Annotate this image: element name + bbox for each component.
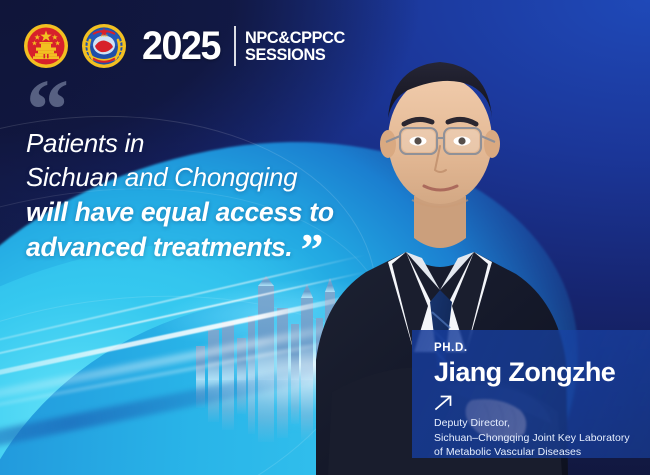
sessions-label: NPC&CPPCC SESSIONS (245, 29, 349, 64)
quote-open-mark: “ (26, 86, 406, 126)
speaker-name-panel: PH.D. Jiang Zongzhe Deputy Director, Sic… (412, 330, 650, 458)
affiliation-line-2: Sichuan–Chongqing Joint Key Laboratory (434, 431, 650, 446)
year-and-sessions-lockup: 2025 NPC&CPPCC SESSIONS (142, 26, 349, 66)
quote-last-line-row: advanced treatments. ” (26, 230, 406, 265)
header-lockup: 1949 2025 NPC&CPPCC SESSIONS (22, 22, 349, 70)
svg-text:1949: 1949 (100, 34, 108, 38)
quote-close-mark: ” (300, 242, 323, 258)
sessions-line-1: NPC&CPPCC (245, 29, 345, 46)
cppcc-emblem-icon: 1949 (80, 22, 128, 70)
poster-canvas: 1949 2025 NPC&CPPCC SESSIONS “ Patients … (0, 0, 650, 475)
quote-block: “ Patients in Sichuan and Chongqing will… (26, 86, 406, 265)
quote-line-3: will have equal access to (26, 195, 406, 230)
speaker-affiliation: Deputy Director, Sichuan–Chongqing Joint… (434, 416, 650, 461)
affiliation-line-3: of Metabolic Vascular Diseases (434, 445, 650, 460)
header-divider (234, 26, 236, 66)
quote-line-1: Patients in (26, 126, 406, 160)
quote-line-2: Sichuan and Chongqing (26, 160, 406, 194)
affiliation-line-1: Deputy Director, (434, 416, 650, 431)
sessions-line-2: SESSIONS (245, 46, 345, 63)
speaker-name: Jiang Zongzhe (434, 357, 650, 389)
quote-line-4: advanced treatments. (26, 230, 292, 265)
speaker-degree: PH.D. (434, 342, 650, 356)
year-label: 2025 (142, 26, 220, 66)
arrow-up-right-icon (434, 394, 454, 412)
national-emblem-of-china-icon (22, 22, 70, 70)
